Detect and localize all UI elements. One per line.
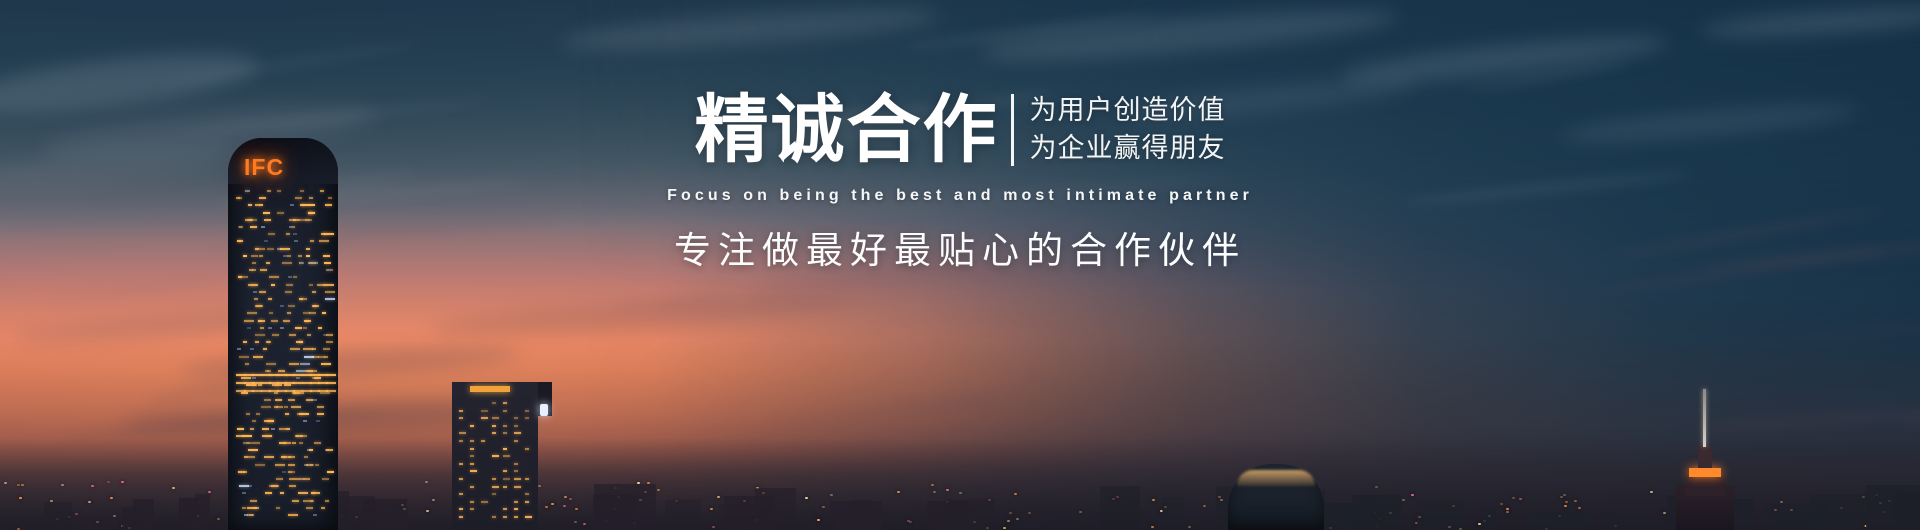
tower-window [246, 190, 250, 192]
tower-window [287, 312, 291, 314]
city-light [1003, 527, 1006, 529]
tower-window [252, 262, 256, 264]
city-light [107, 481, 110, 483]
tower-window-band [326, 374, 336, 376]
city-light [545, 506, 548, 508]
tower-window [248, 284, 258, 286]
tower-window [323, 348, 330, 350]
tower-window [267, 420, 274, 422]
tower-window [275, 464, 285, 466]
tower-window [326, 341, 333, 343]
city-light [91, 485, 94, 487]
city-light [1506, 508, 1509, 510]
tower-window [321, 363, 331, 365]
tower-window [293, 219, 300, 221]
city-light [1512, 497, 1515, 499]
tower-window [263, 348, 267, 350]
city-light [88, 501, 91, 503]
city-light [574, 521, 577, 523]
tower-window [252, 269, 256, 271]
tower-window [243, 255, 247, 257]
distant-building [830, 501, 882, 530]
building-window [503, 425, 507, 427]
tower-window [239, 226, 243, 228]
building-window [503, 455, 510, 457]
distant-building [74, 519, 118, 530]
tower-window [242, 435, 252, 437]
tower-window [310, 240, 314, 242]
tower-window [271, 428, 275, 430]
building-window [514, 470, 518, 472]
tower-window [248, 449, 258, 451]
city-light [551, 503, 554, 505]
city-light [563, 505, 566, 507]
tower-window [305, 219, 312, 221]
tower-window [271, 320, 278, 322]
distant-building [1320, 503, 1353, 530]
tower-window [327, 284, 334, 286]
distant-building [20, 516, 46, 530]
tower-window [239, 356, 249, 358]
city-light [432, 499, 435, 501]
tower-window [314, 377, 321, 379]
city-light [805, 497, 808, 499]
tower-window [263, 212, 270, 214]
tower-window [316, 420, 320, 422]
distant-building [1532, 512, 1588, 530]
building-window [481, 417, 488, 419]
tower-window [236, 435, 243, 437]
tower-window [254, 298, 258, 300]
tower-window [285, 413, 289, 415]
building-window [503, 470, 507, 472]
city-light [1650, 491, 1653, 493]
tower-window [259, 255, 263, 257]
tower-window [321, 233, 325, 235]
tower-window [289, 226, 293, 228]
tower-window [236, 197, 240, 199]
city-light [575, 508, 578, 510]
building-window [459, 508, 463, 510]
distant-building [1481, 510, 1496, 530]
tower-window [251, 255, 258, 257]
city-light [19, 497, 22, 499]
tower-window [268, 233, 275, 235]
tower-window [293, 233, 297, 235]
tower-window [243, 341, 247, 343]
building-window [492, 486, 499, 488]
city-light [113, 515, 116, 517]
city-light [897, 491, 900, 493]
spire-tier [1685, 476, 1725, 496]
tower-window [289, 334, 296, 336]
tower-window [315, 464, 319, 466]
tower-window [289, 478, 293, 480]
city-light [817, 519, 820, 521]
dome-glow [1237, 470, 1315, 486]
city-light [710, 508, 713, 510]
building-window [503, 402, 507, 404]
tower-window [241, 377, 251, 379]
tower-window [288, 471, 295, 473]
tower-window [308, 212, 315, 214]
tower-window [288, 464, 295, 466]
tower-window [304, 356, 314, 358]
building-window [525, 448, 529, 450]
tower-window [237, 348, 241, 350]
tower-window [266, 262, 270, 264]
tower-window [280, 248, 290, 250]
city-light [1028, 512, 1031, 514]
tower-window [250, 428, 254, 430]
rooftop-light-band [470, 386, 510, 392]
tower-window [276, 478, 283, 480]
tower-window [299, 442, 303, 444]
tower-window [262, 428, 269, 430]
tower-window [255, 464, 265, 466]
tower-window [322, 478, 329, 480]
city-light [75, 513, 78, 515]
tower-window [238, 276, 248, 278]
tower-window [325, 291, 335, 293]
city-light [1560, 496, 1563, 498]
tower-window [255, 341, 259, 343]
tower-window [288, 276, 292, 278]
tower-window [253, 356, 263, 358]
tower-window [282, 262, 292, 264]
tower-window [264, 456, 274, 458]
building-window [514, 486, 521, 488]
tower-window [300, 298, 307, 300]
spire-tower-icon [1676, 486, 1734, 530]
building-window [525, 516, 532, 518]
city-light [217, 518, 220, 520]
tower-window [278, 370, 285, 372]
city-light [17, 484, 20, 486]
tower-window [252, 377, 256, 379]
city-light [538, 485, 541, 487]
tower-window [239, 240, 243, 242]
tower-window [284, 442, 291, 444]
tower-window [267, 341, 271, 343]
tower-window [306, 255, 310, 257]
city-light [426, 510, 429, 512]
city-light [1565, 501, 1568, 503]
tower-window [287, 255, 291, 257]
city-light [1506, 511, 1509, 513]
building-window [503, 448, 507, 450]
distant-building [1417, 501, 1464, 530]
tower-window [285, 291, 292, 293]
distant-building [195, 494, 210, 530]
tower-window [259, 197, 266, 199]
tower-window [286, 428, 290, 430]
tower-window [248, 204, 252, 206]
tower-window [277, 212, 284, 214]
building-window [492, 493, 496, 495]
tower-window [262, 435, 272, 437]
tower-window [284, 384, 291, 386]
tower-window-band [326, 390, 336, 392]
tower-window-band [326, 382, 336, 384]
tower-window [258, 320, 262, 322]
tower-window [299, 413, 309, 415]
tower-window [276, 406, 283, 408]
tower-window [242, 492, 246, 494]
city-light [1152, 499, 1155, 501]
ifc-sign-label: IFC [244, 156, 284, 179]
building-window [514, 516, 518, 518]
city-light [121, 481, 124, 483]
tower-window [242, 507, 246, 509]
tower-window [298, 255, 302, 257]
city-light [21, 484, 24, 486]
building-window [525, 478, 529, 480]
city-light [1663, 512, 1666, 514]
tower-window [307, 334, 311, 336]
city-light [1188, 526, 1191, 528]
tower-window [290, 348, 300, 350]
tower-window [309, 262, 316, 264]
tower-window [304, 320, 311, 322]
tower-window [293, 276, 297, 278]
tower-window [255, 334, 265, 336]
city-light [717, 496, 720, 498]
distant-building [1600, 512, 1619, 530]
distant-building [1100, 486, 1139, 530]
tower-window [324, 233, 334, 235]
building-window [459, 410, 463, 412]
city-light [172, 487, 175, 489]
tower-window [244, 320, 254, 322]
tower-window [261, 226, 265, 228]
tower-window [250, 500, 257, 502]
building-window [459, 493, 463, 495]
tower-window [321, 507, 325, 509]
building-window [514, 432, 521, 434]
tower-window [266, 363, 276, 365]
city-light [583, 523, 586, 525]
building-window [503, 432, 507, 434]
city-light [1402, 499, 1405, 501]
city-light [712, 526, 715, 528]
building-window [470, 508, 474, 510]
tower-window [288, 399, 295, 401]
tower-window [268, 298, 272, 300]
city-light [1375, 486, 1378, 488]
tower-window [237, 428, 244, 430]
tower-window [323, 284, 327, 286]
tower-window [250, 226, 257, 228]
tower-window [300, 204, 304, 206]
tower-window [253, 291, 257, 293]
city-light [1009, 512, 1012, 514]
distant-building [1618, 519, 1663, 530]
building-window [470, 486, 474, 488]
tower-window [296, 435, 303, 437]
building-window [459, 463, 463, 465]
city-light [1578, 507, 1581, 509]
building-window [525, 493, 529, 495]
building-window [514, 417, 518, 419]
tower-window [277, 190, 281, 192]
tower-window [275, 384, 279, 386]
tower-window [259, 204, 263, 206]
tower-window [267, 248, 274, 250]
city-light [946, 489, 949, 491]
building-window [492, 417, 499, 419]
tower-window [249, 269, 253, 271]
tower-window [268, 327, 272, 329]
building-window [470, 440, 474, 442]
tower-window [326, 334, 333, 336]
tower-window [283, 320, 290, 322]
tower-window [269, 312, 273, 314]
tower-window [264, 219, 271, 221]
tower-window [298, 492, 308, 494]
tower-window [303, 327, 307, 329]
city-light [647, 482, 650, 484]
building-window [492, 478, 496, 480]
tower-window [327, 471, 334, 473]
dome-building-icon [1228, 464, 1324, 530]
building-window [481, 440, 485, 442]
tower-window [312, 291, 316, 293]
tower-window [264, 240, 268, 242]
building-window [492, 432, 496, 434]
tower-window [291, 406, 301, 408]
city-light [1564, 505, 1567, 507]
building-window [470, 425, 474, 427]
building-window [503, 478, 510, 480]
building-window [492, 516, 496, 518]
city-light [1016, 518, 1019, 520]
tower-window [253, 442, 260, 444]
tower-window [306, 464, 313, 466]
tower-window [271, 284, 275, 286]
city-light [1500, 503, 1503, 505]
tower-window [327, 269, 331, 271]
tower-window [279, 428, 286, 430]
tower-window [269, 485, 279, 487]
city-light [1014, 493, 1017, 495]
distant-building [1894, 493, 1920, 530]
tower-window [256, 413, 260, 415]
city-light [822, 506, 825, 508]
city-light [933, 491, 936, 493]
spire-lit-crown [1689, 468, 1721, 477]
tower-window [306, 248, 310, 250]
tower-window [259, 291, 266, 293]
tower-window [247, 219, 257, 221]
city-light [425, 481, 428, 483]
building-window [459, 516, 463, 518]
tower-window [325, 204, 332, 206]
tower-window [317, 406, 324, 408]
building-window [492, 455, 499, 457]
tower-window [300, 262, 304, 264]
building-window [492, 402, 496, 404]
tower-window [324, 356, 328, 358]
tower-window [296, 341, 303, 343]
tower-window [260, 269, 267, 271]
city-light [110, 497, 113, 499]
tower-window [282, 471, 286, 473]
tower-window [261, 406, 271, 408]
mid-building [452, 382, 538, 530]
tower-window [314, 442, 321, 444]
spire-neck [1698, 446, 1712, 468]
building-window [459, 478, 463, 480]
city-light [61, 484, 64, 486]
building-window [503, 410, 507, 412]
tower-window [319, 240, 329, 242]
city-light [564, 496, 567, 498]
tower-window [245, 363, 249, 365]
tower-window [280, 492, 284, 494]
city-light [657, 489, 660, 491]
tower-window [328, 197, 332, 199]
building-window [481, 410, 488, 412]
tower-window [248, 456, 255, 458]
tower-window [288, 305, 295, 307]
city-light [1079, 511, 1082, 513]
tower-window [280, 305, 284, 307]
tower-window [312, 305, 319, 307]
tower-window [246, 384, 256, 386]
distant-building [1162, 497, 1184, 530]
building-window [514, 501, 518, 503]
tower-window [280, 327, 284, 329]
tower-window [303, 478, 310, 480]
building-window [470, 463, 474, 465]
building-window [481, 501, 488, 503]
building-beacon-light [540, 404, 548, 416]
spire-mast [1703, 389, 1706, 447]
city-light [1563, 494, 1566, 496]
tower-window [260, 327, 264, 329]
building-window [514, 440, 518, 442]
tower-window [281, 456, 291, 458]
city-light [1411, 494, 1414, 496]
tower-window [308, 204, 315, 206]
city-light [830, 494, 833, 496]
tower-window [326, 449, 333, 451]
distant-building [665, 500, 701, 530]
tower-window [295, 327, 302, 329]
tower-window [255, 507, 259, 509]
building-window [514, 508, 518, 510]
tower-window [309, 197, 313, 199]
tower-window [300, 190, 304, 192]
city-light [569, 498, 572, 500]
tower-window [292, 442, 296, 444]
tower-window [238, 471, 245, 473]
city-light [1519, 498, 1522, 500]
tower-window [309, 449, 313, 451]
tower-window [296, 377, 300, 379]
tower-window [296, 370, 306, 372]
tower-window [243, 442, 253, 444]
distant-building [122, 507, 137, 530]
tower-window [255, 248, 259, 250]
tower-window [246, 413, 250, 415]
building-window [514, 425, 518, 427]
tower-window [258, 384, 262, 386]
building-window [503, 486, 507, 488]
distant-building [594, 484, 656, 530]
tower-window [313, 514, 317, 516]
